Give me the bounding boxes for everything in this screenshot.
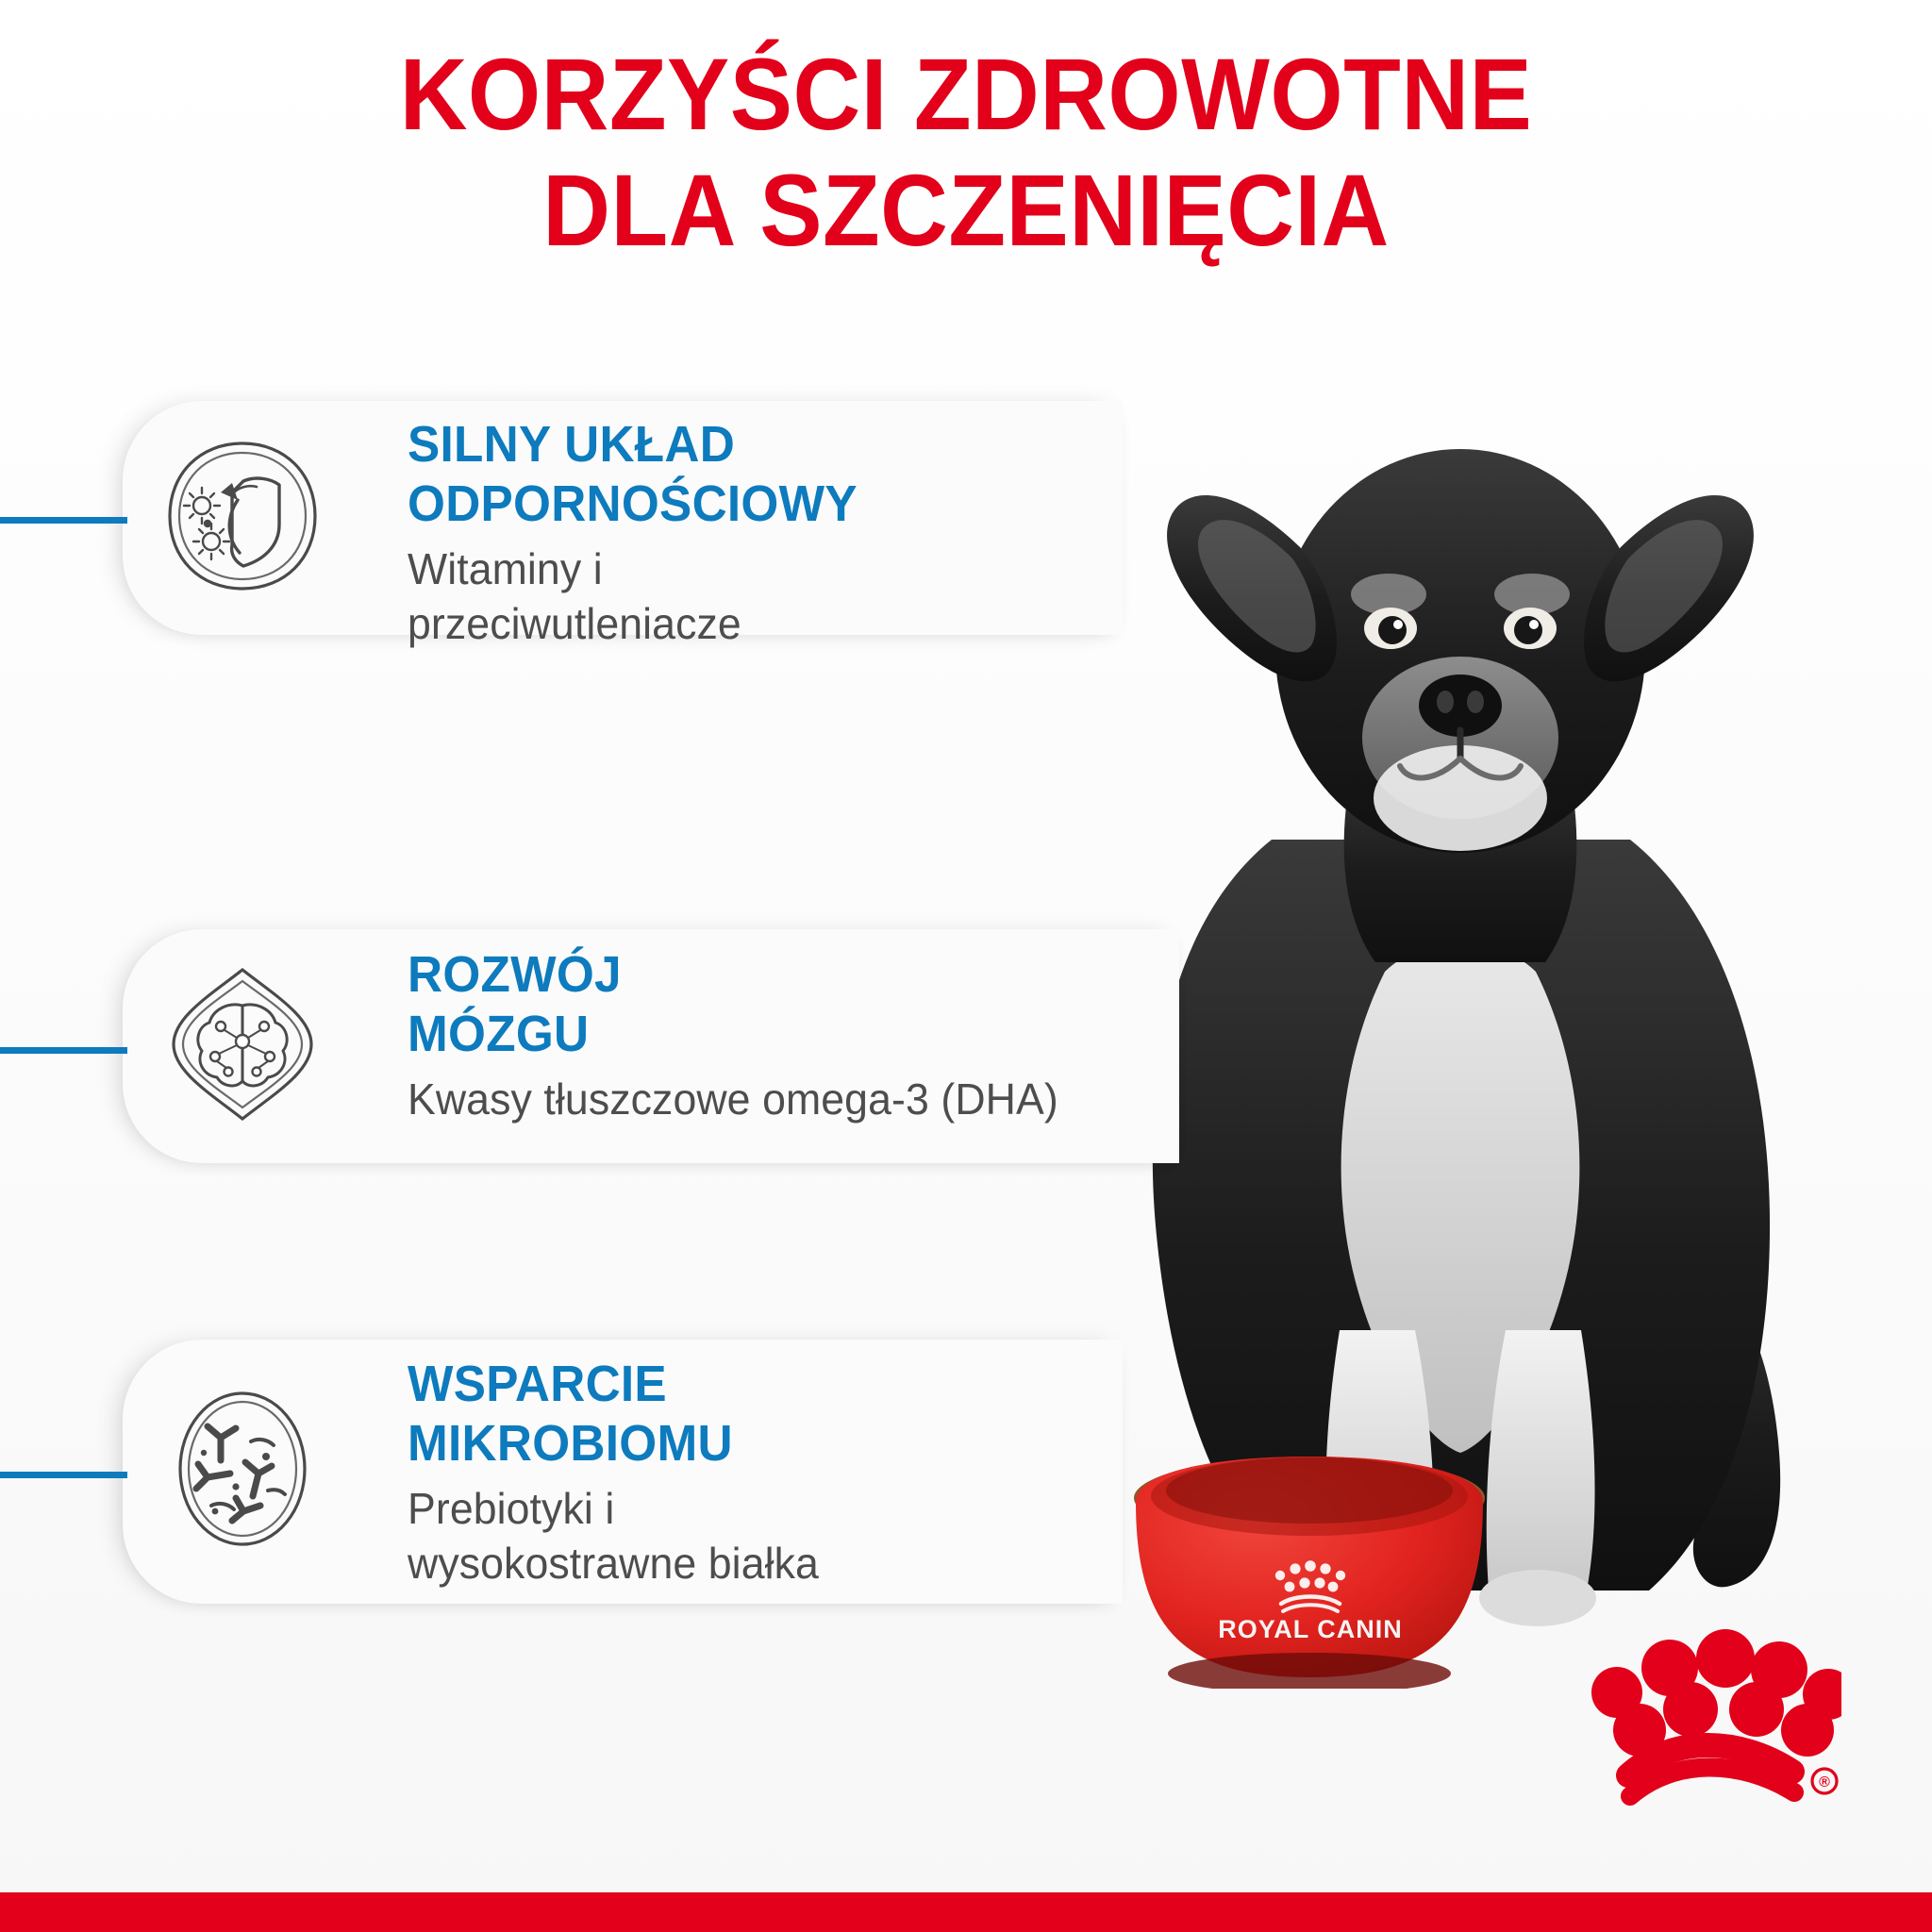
benefit-heading-2: ROZWÓJ MÓZGU — [408, 945, 1160, 1063]
benefit-heading-3: WSPARCIE MIKROBIOMU — [408, 1355, 1089, 1473]
svg-text:®: ® — [1819, 1774, 1830, 1790]
registered-mark: ® — [1812, 1769, 1837, 1793]
benefit-subtext-2: Kwasy tłuszczowe omega-3 (DHA) — [408, 1073, 1176, 1127]
title-line-2: DLA SZCZENIĘCIA — [77, 152, 1855, 268]
marketing-infographic-page: KORZYŚCI ZDROWOTNE DLA SZCZENIĘCIA — [0, 0, 1932, 1932]
benefit-text-3: WSPARCIE MIKROBIOMU Prebiotyki i wysokos… — [408, 1355, 1124, 1591]
shield-immunity-icon — [153, 426, 332, 606]
title-line-1: KORZYŚCI ZDROWOTNE — [77, 36, 1855, 152]
benefit-subtext-1: Witaminy i przeciwutleniacze — [408, 542, 1048, 651]
royal-canin-crown-logo: ® — [1558, 1615, 1841, 1841]
connector-line-1 — [0, 517, 127, 524]
brain-icon — [153, 955, 332, 1134]
benefit-text-2: ROZWÓJ MÓZGU Kwasy tłuszczowe omega-3 (D… — [408, 945, 1200, 1127]
connector-line-2 — [0, 1047, 127, 1054]
connector-line-3 — [0, 1472, 127, 1478]
royal-canin-food-bowl: ROYAL CANIN — [1045, 1443, 1574, 1689]
benefit-heading-1: SILNY UKŁAD ODPORNOŚCIOWY — [408, 415, 1035, 533]
benefit-subtext-3: Prebiotyki i wysokostrawne białka — [408, 1482, 1103, 1591]
page-title: KORZYŚCI ZDROWOTNE DLA SZCZENIĘCIA — [0, 36, 1932, 268]
benefit-text-1: SILNY UKŁAD ODPORNOŚCIOWY Witaminy i prz… — [408, 415, 1068, 651]
microbiome-bacteria-icon — [153, 1379, 332, 1558]
bottom-red-bar — [0, 1892, 1932, 1932]
bowl-brand-text: ROYAL CANIN — [1218, 1615, 1403, 1643]
